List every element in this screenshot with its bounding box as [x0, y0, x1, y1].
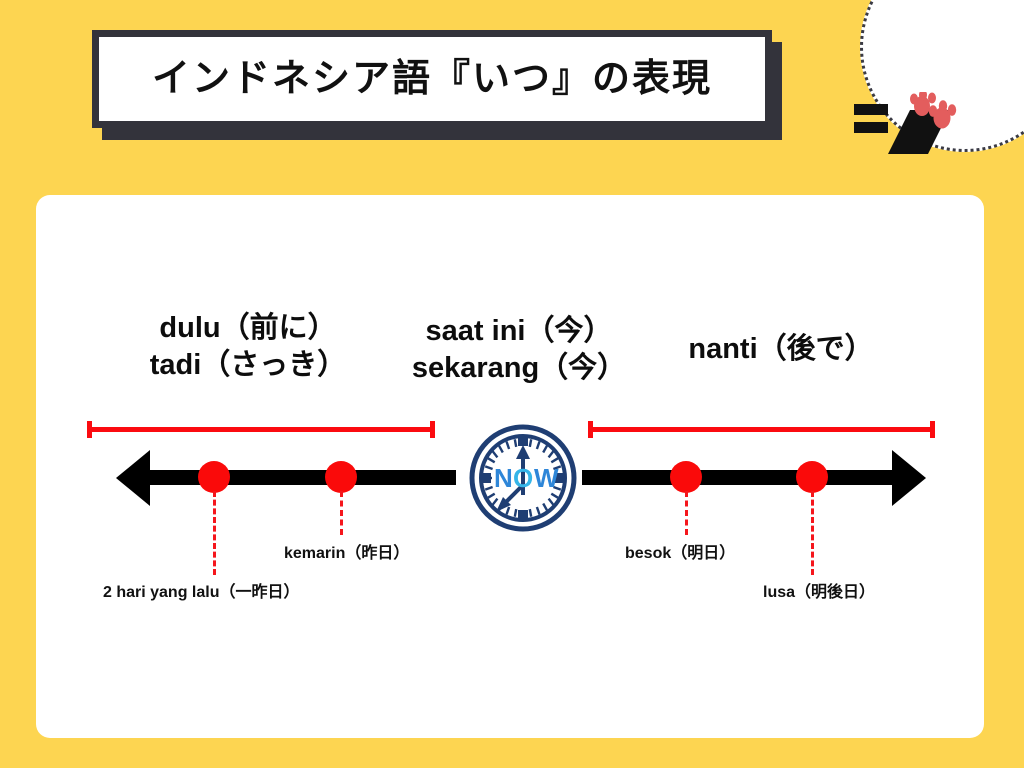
point-caption-besok: besok（明日） [625, 539, 735, 563]
bracket-cap-right [930, 421, 935, 438]
paw-logo-icon [854, 92, 958, 166]
timeline-dot-kemarin [325, 461, 357, 493]
bracket-bar [588, 427, 935, 432]
timeline-axis-future [582, 470, 894, 485]
phase-label-now: saat ini（今） sekarang（今） [374, 313, 664, 387]
point-caption-lusa: lusa（明後日） [763, 578, 875, 602]
phase-now-line-2: sekarang（今） [374, 350, 664, 387]
point-caption-2hari: 2 hari yang lalu（一昨日） [103, 578, 300, 602]
timeline-diagram: dulu（前に） tadi（さっき） saat ini（今） sekarang（… [36, 195, 984, 738]
phase-label-past: dulu（前に） tadi（さっき） [88, 310, 408, 384]
compass-letter-n: N [494, 463, 513, 493]
point-caption-kemarin: kemarin（昨日） [284, 539, 409, 563]
phase-past-line-2: tadi（さっき） [88, 347, 408, 384]
arrow-left-icon [116, 450, 150, 506]
leader-line-2hari [213, 491, 216, 575]
phase-label-future: nanti（後で） [636, 331, 926, 368]
page-title: インドネシア語『いつ』の表現 [152, 60, 712, 98]
phase-future-line-1: nanti（後で） [636, 331, 926, 368]
content-card: dulu（前に） tadi（さっき） saat ini（今） sekarang（… [36, 195, 984, 738]
timeline-dot-2hari [198, 461, 230, 493]
timeline-dot-besok [670, 461, 702, 493]
bracket-bar [87, 427, 435, 432]
range-bracket-future [588, 421, 935, 437]
leader-line-besok [685, 491, 688, 535]
now-compass-icon: N O W [468, 423, 578, 533]
phase-now-line-1: saat ini（今） [374, 313, 664, 350]
range-bracket-past [87, 421, 435, 437]
title-box: インドネシア語『いつ』の表現 [92, 30, 772, 128]
phase-past-line-1: dulu（前に） [88, 310, 408, 347]
compass-letter-w: W [534, 463, 559, 493]
arrow-right-icon [892, 450, 926, 506]
title-banner: インドネシア語『いつ』の表現 [92, 30, 772, 128]
timeline-dot-lusa [796, 461, 828, 493]
leader-line-kemarin [340, 491, 343, 535]
bracket-cap-right [430, 421, 435, 438]
leader-line-lusa [811, 491, 814, 575]
compass-letter-o: O [513, 463, 533, 493]
timeline-axis-past [144, 470, 456, 485]
